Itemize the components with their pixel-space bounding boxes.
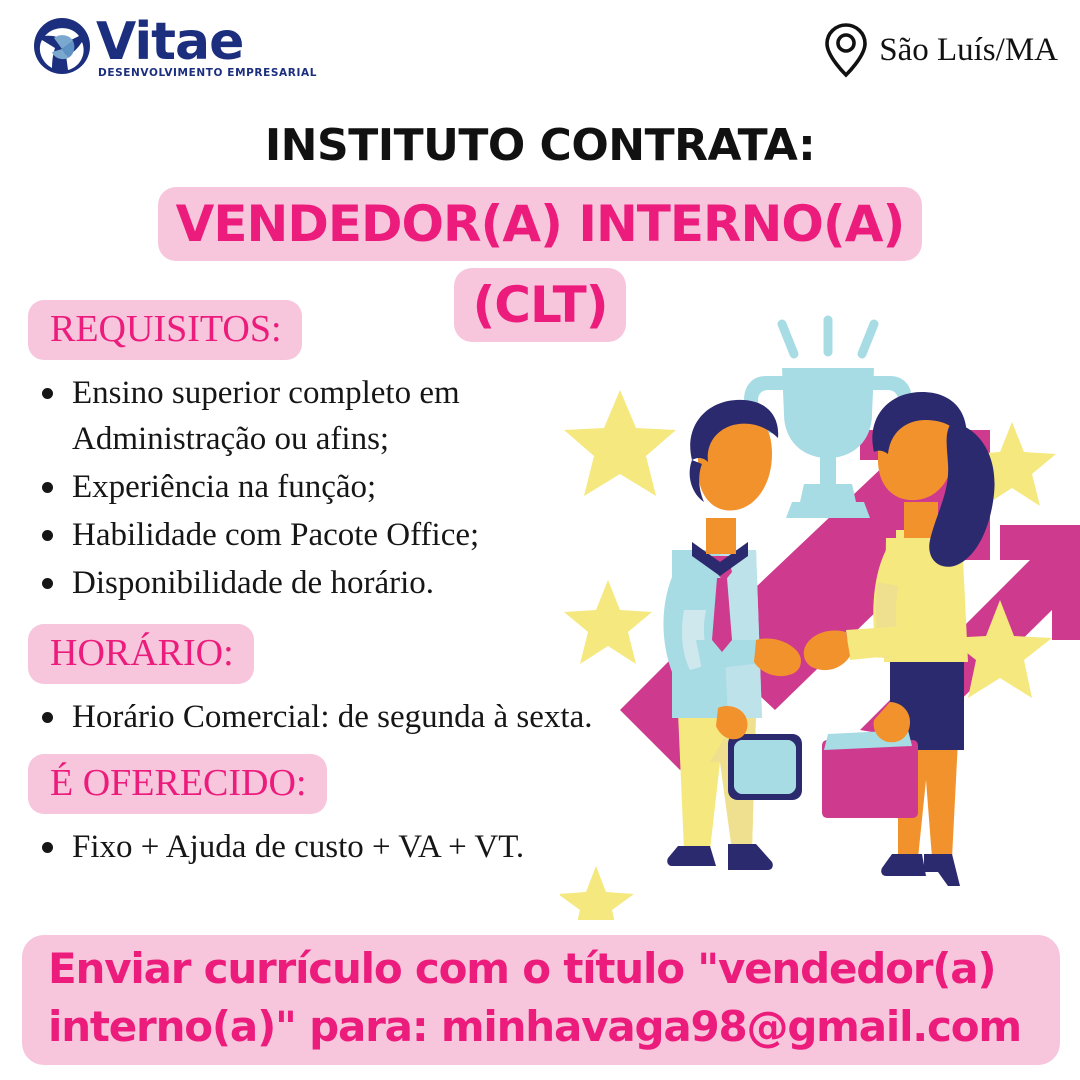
swirl-circle-icon <box>32 16 92 76</box>
requisitos-list: Ensino superior completo em Administraçã… <box>0 370 600 606</box>
list-item: Habilidade com Pacote Office; <box>0 512 600 558</box>
oferecido-list: Fixo + Ajuda de custo + VA + VT. <box>0 824 600 870</box>
cta-line-1: Enviar currículo com o título "vendedor(… <box>48 940 1034 998</box>
brand-tagline: DESENVOLVIMENTO EMPRESARIAL <box>98 67 317 79</box>
star-icon <box>564 580 652 664</box>
brand-name: Vitae <box>96 16 317 68</box>
section-badge-oferecido: É OFERECIDO: <box>28 754 327 814</box>
header: Vitae DESENVOLVIMENTO EMPRESARIAL São Lu… <box>0 0 1080 100</box>
list-item: Fixo + Ajuda de custo + VA + VT. <box>0 824 600 870</box>
list-item: Horário Comercial: de segunda à sexta. <box>0 694 600 740</box>
list-item: Disponibilidade de horário. <box>0 560 600 606</box>
brand-text: Vitae DESENVOLVIMENTO EMPRESARIAL <box>96 16 317 79</box>
location-label: São Luís/MA <box>879 32 1058 69</box>
cta-banner[interactable]: Enviar currículo com o título "vendedor(… <box>22 935 1060 1065</box>
list-item: Ensino superior completo em Administraçã… <box>0 370 600 462</box>
map-pin-icon <box>823 22 869 78</box>
section-badge-horario: HORÁRIO: <box>28 624 254 684</box>
list-item: Experiência na função; <box>0 464 600 510</box>
section-requisitos: REQUISITOS: Ensino superior completo em … <box>0 300 600 606</box>
business-handshake-illustration <box>560 310 1080 920</box>
cta-line-2: interno(a)" para: minhavaga98@gmail.com <box>48 998 1034 1056</box>
star-icon <box>564 390 676 496</box>
location-badge: São Luís/MA <box>823 22 1058 78</box>
details-content: REQUISITOS: Ensino superior completo em … <box>0 300 600 872</box>
star-icon <box>560 866 634 920</box>
brand-logo: Vitae DESENVOLVIMENTO EMPRESARIAL <box>32 16 317 79</box>
job-title-line-1: VENDEDOR(A) INTERNO(A) <box>158 187 923 261</box>
section-badge-requisitos: REQUISITOS: <box>28 300 302 360</box>
section-horario: HORÁRIO: Horário Comercial: de segunda à… <box>0 624 600 740</box>
horario-list: Horário Comercial: de segunda à sexta. <box>0 694 600 740</box>
section-oferecido: É OFERECIDO: Fixo + Ajuda de custo + VA … <box>0 754 600 870</box>
page-kicker: INSTITUTO CONTRATA: <box>0 120 1080 171</box>
